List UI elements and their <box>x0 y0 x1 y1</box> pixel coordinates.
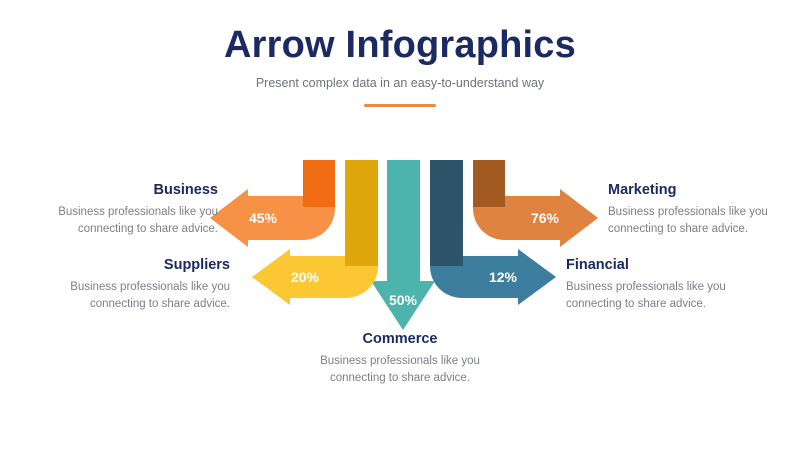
commerce-title: Commerce <box>300 332 500 348</box>
business-description: Business professionals like you connecti… <box>8 204 218 237</box>
business-value: 45% <box>249 210 278 226</box>
marketing-value: 76% <box>531 210 560 226</box>
financial-value: 12% <box>489 269 518 285</box>
financial-title: Financial <box>566 258 766 274</box>
slide-canvas: Arrow Infographics Present complex data … <box>0 0 800 450</box>
label-block-suppliers[interactable]: Suppliers Business professionals like yo… <box>48 258 230 312</box>
suppliers-title: Suppliers <box>48 258 230 274</box>
business-stem <box>303 160 335 207</box>
flow-business[interactable]: 45% <box>210 160 335 247</box>
financial-description: Business professionals like you connecti… <box>566 279 766 312</box>
suppliers-stem <box>345 160 378 266</box>
flow-marketing[interactable]: 76% <box>473 160 598 247</box>
marketing-stem <box>473 160 505 207</box>
label-block-marketing[interactable]: Marketing Business professionals like yo… <box>608 183 800 237</box>
suppliers-value: 20% <box>291 269 320 285</box>
commerce-value: 50% <box>389 292 418 308</box>
financial-stem <box>430 160 463 266</box>
marketing-description: Business professionals like you connecti… <box>608 204 800 237</box>
business-title: Business <box>8 183 218 199</box>
commerce-description: Business professionals like you connecti… <box>300 353 500 386</box>
label-block-business[interactable]: Business Business professionals like you… <box>8 183 218 237</box>
label-block-financial[interactable]: Financial Business professionals like yo… <box>566 258 766 312</box>
label-block-commerce[interactable]: Commerce Business professionals like you… <box>300 332 500 386</box>
suppliers-description: Business professionals like you connecti… <box>48 279 230 312</box>
marketing-title: Marketing <box>608 183 800 199</box>
flow-commerce[interactable]: 50% <box>371 160 435 330</box>
